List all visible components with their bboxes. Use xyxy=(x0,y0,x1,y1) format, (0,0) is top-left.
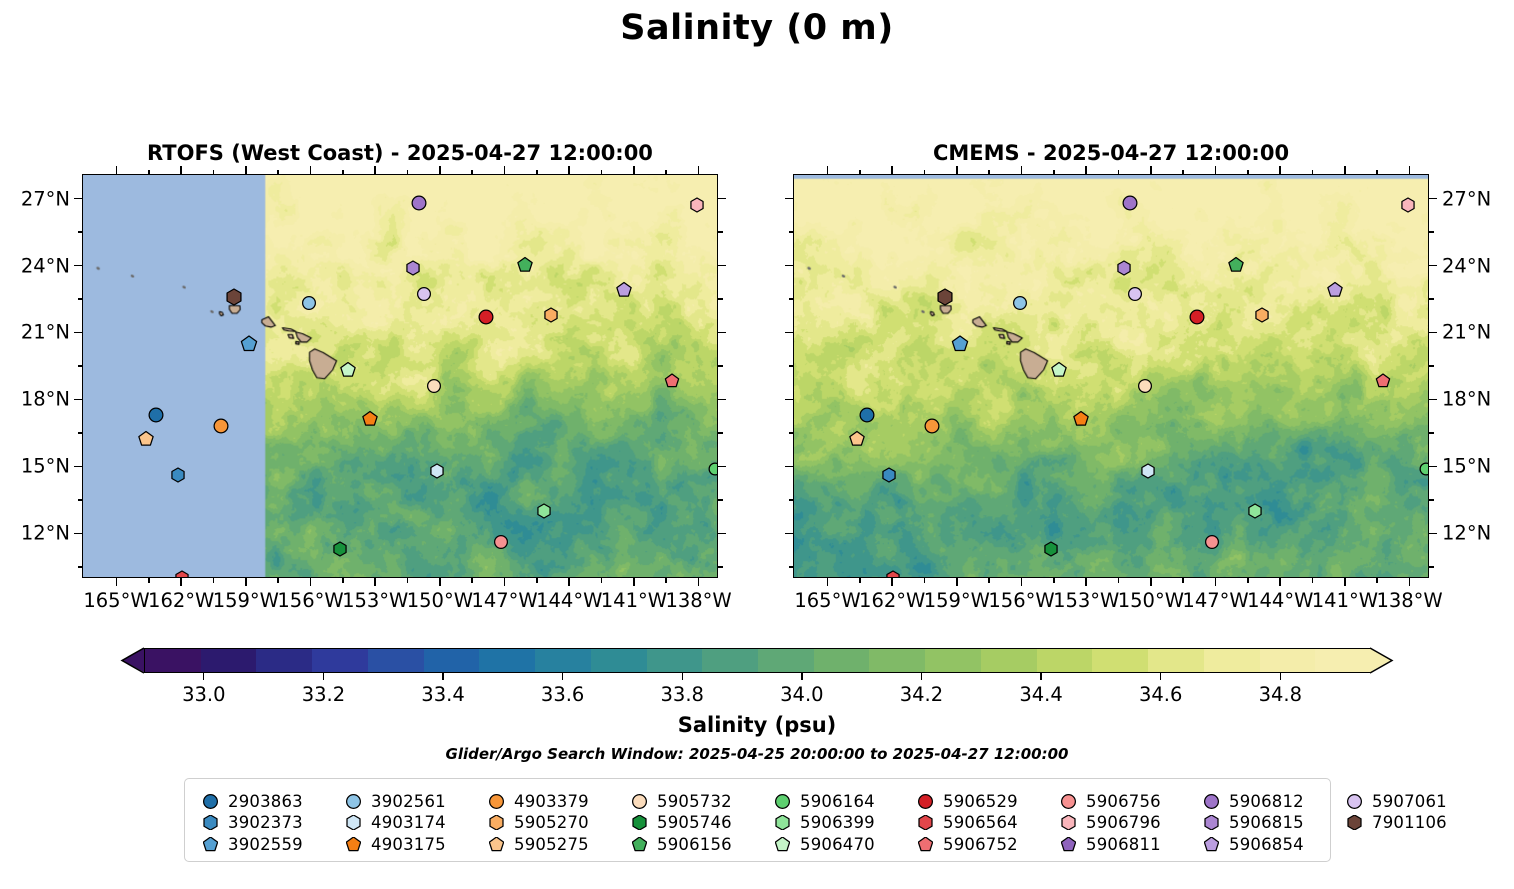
legend-item-5907061[interactable]: 5907061 xyxy=(1343,790,1447,812)
y-tick-minor-right xyxy=(718,365,723,367)
x-tick xyxy=(374,578,376,586)
colorbar-segment xyxy=(145,649,201,672)
float-marker-5906164[interactable] xyxy=(708,462,718,475)
legend-item-5906854[interactable]: 5906854 xyxy=(1200,833,1304,855)
legend-item-3902373[interactable]: 3902373 xyxy=(199,812,303,834)
y-tick-right xyxy=(1429,198,1437,200)
float-marker-5905275[interactable] xyxy=(849,432,864,447)
x-tick-minor xyxy=(148,578,150,583)
colorbar-segment xyxy=(647,649,703,672)
legend-label: 5906812 xyxy=(1229,792,1304,811)
colorbar-title: Salinity (psu) xyxy=(0,713,1514,737)
x-tick-minor-top xyxy=(1182,170,1184,175)
legend-symbol-hexagon-icon xyxy=(771,812,793,834)
x-tick xyxy=(1085,578,1087,586)
x-tick-label: 159°W xyxy=(924,589,990,612)
x-tick-top xyxy=(1409,166,1411,174)
legend-label: 5906815 xyxy=(1229,813,1304,832)
x-tick-minor xyxy=(342,578,344,583)
y-tick-minor-right xyxy=(1429,298,1434,300)
float-marker-3902373[interactable] xyxy=(882,468,896,482)
colorbar-tick-label: 33.8 xyxy=(661,683,704,706)
y-tick-label: 12°N xyxy=(1442,522,1491,545)
y-tick-minor xyxy=(78,499,83,501)
legend-symbol-pentagon-icon xyxy=(485,833,507,855)
x-tick-label: 150°W xyxy=(407,589,473,612)
x-tick-top xyxy=(310,166,312,174)
colorbar-tick xyxy=(921,673,922,680)
float-marker-3902373[interactable] xyxy=(171,468,185,482)
legend-symbol-circle-icon xyxy=(1057,790,1079,812)
x-tick xyxy=(891,578,893,586)
float-marker-5906812[interactable] xyxy=(412,195,427,210)
y-tick-label: 27°N xyxy=(6,187,70,210)
x-tick-minor-top xyxy=(536,170,538,175)
legend-symbol-pentagon-icon xyxy=(199,833,221,855)
legend-label: 3902559 xyxy=(228,835,303,854)
x-tick xyxy=(827,578,829,586)
colorbar-segment xyxy=(1260,649,1316,672)
float-marker-5905270[interactable] xyxy=(1255,308,1269,322)
x-tick-minor xyxy=(536,578,538,583)
x-tick-label: 162°W xyxy=(859,589,925,612)
y-tick-label: 18°N xyxy=(1442,388,1491,411)
x-tick xyxy=(568,578,570,586)
float-marker-3902559[interactable] xyxy=(952,336,968,352)
legend-symbol-circle-icon xyxy=(771,790,793,812)
colorbar-tick xyxy=(1160,673,1161,680)
y-tick xyxy=(74,533,82,535)
colorbar-segment xyxy=(1037,649,1093,672)
x-tick-top xyxy=(1085,166,1087,174)
legend-item-4903175[interactable]: 4903175 xyxy=(342,833,446,855)
y-tick-minor xyxy=(789,231,794,233)
x-tick-minor-top xyxy=(213,170,215,175)
legend-label: 5906752 xyxy=(943,835,1018,854)
y-tick-minor xyxy=(78,231,83,233)
x-tick-top xyxy=(1215,166,1217,174)
legend-item-5906470[interactable]: 5906470 xyxy=(771,833,875,855)
colorbar-tick-label: 34.4 xyxy=(1019,683,1062,706)
x-tick-minor xyxy=(988,578,990,583)
legend-symbol-circle-icon xyxy=(1200,790,1222,812)
colorbar-segment xyxy=(201,649,257,672)
x-tick xyxy=(956,578,958,586)
float-marker-5906564[interactable] xyxy=(886,571,900,578)
float-marker-5906752[interactable] xyxy=(665,374,679,388)
float-marker-4903175[interactable] xyxy=(1073,412,1088,427)
x-tick-top xyxy=(891,166,893,174)
colorbar-segment xyxy=(1315,649,1371,672)
legend-item-5906796[interactable]: 5906796 xyxy=(1057,812,1161,834)
colorbar-tick-label: 34.2 xyxy=(900,683,943,706)
y-tick-right xyxy=(718,399,726,401)
y-tick xyxy=(785,399,793,401)
legend-label: 5905746 xyxy=(657,813,732,832)
x-tick-minor xyxy=(665,578,667,583)
x-tick-label: 165°W xyxy=(794,589,860,612)
float-marker-3902559[interactable] xyxy=(241,336,257,352)
legend-item-5906811[interactable]: 5906811 xyxy=(1057,833,1161,855)
search-window-note: Glider/Argo Search Window: 2025-04-25 20… xyxy=(0,745,1514,763)
y-tick xyxy=(74,466,82,468)
y-tick-minor xyxy=(789,432,794,434)
legend-item-5906164[interactable]: 5906164 xyxy=(771,790,875,812)
float-marker-5906529[interactable] xyxy=(479,309,494,324)
x-tick-minor-top xyxy=(1118,170,1120,175)
legend-item-5905275[interactable]: 5905275 xyxy=(485,833,589,855)
legend-symbol-hexagon-icon xyxy=(628,812,650,834)
float-marker-5906812[interactable] xyxy=(1123,195,1138,210)
y-tick xyxy=(74,198,82,200)
float-marker-5906399[interactable] xyxy=(537,504,551,518)
legend-label: 5906529 xyxy=(943,792,1018,811)
y-tick xyxy=(785,332,793,334)
x-tick-label: 162°W xyxy=(148,589,214,612)
legend-label: 4903379 xyxy=(514,792,589,811)
y-tick xyxy=(785,466,793,468)
legend-item-5906399[interactable]: 5906399 xyxy=(771,812,875,834)
float-marker-5906815[interactable] xyxy=(406,261,420,275)
y-tick-minor-right xyxy=(718,432,723,434)
x-tick-top xyxy=(1021,166,1023,174)
colorbar-segment xyxy=(424,649,480,672)
float-marker-4903175[interactable] xyxy=(362,412,377,427)
x-tick-label: 144°W xyxy=(1247,589,1313,612)
y-tick-minor-right xyxy=(1429,231,1434,233)
x-tick-label: 147°W xyxy=(471,589,537,612)
legend-symbol-hexagon-icon xyxy=(1343,812,1365,834)
x-tick-label: 141°W xyxy=(601,589,667,612)
colorbar-gradient xyxy=(144,648,1370,673)
legend-label: 7901106 xyxy=(1372,813,1447,832)
float-marker-5906796[interactable] xyxy=(690,198,704,212)
float-marker-5906756[interactable] xyxy=(1205,535,1219,549)
y-tick-label: 24°N xyxy=(6,254,70,277)
legend-item-4903174[interactable]: 4903174 xyxy=(342,812,446,834)
legend-item-5906156[interactable]: 5906156 xyxy=(628,833,732,855)
colorbar-segment xyxy=(702,649,758,672)
colorbar-segment xyxy=(981,649,1037,672)
legend-item-5906529[interactable]: 5906529 xyxy=(914,790,1018,812)
legend-symbol-circle-icon xyxy=(485,790,507,812)
float-marker-5907061[interactable] xyxy=(417,287,431,301)
map-panel-rtofs[interactable] xyxy=(82,174,718,578)
y-tick-minor-right xyxy=(718,499,723,501)
x-tick xyxy=(439,578,441,586)
x-tick-top xyxy=(374,166,376,174)
y-tick-minor xyxy=(789,499,794,501)
colorbar-tick xyxy=(801,673,802,680)
y-tick-right xyxy=(1429,466,1437,468)
legend-label: 5906399 xyxy=(800,813,875,832)
y-tick-label: 18°N xyxy=(6,388,70,411)
y-tick-minor xyxy=(78,365,83,367)
x-tick-label: 138°W xyxy=(665,589,731,612)
x-tick xyxy=(245,578,247,586)
float-marker-5906752[interactable] xyxy=(1376,374,1390,388)
legend-symbol-circle-icon xyxy=(1343,790,1365,812)
x-tick-top xyxy=(956,166,958,174)
legend-symbol-pentagon-icon xyxy=(771,833,793,855)
float-marker-5906854[interactable] xyxy=(617,282,632,297)
float-marker-5905275[interactable] xyxy=(138,432,153,447)
x-tick-minor xyxy=(924,578,926,583)
colorbar-tick xyxy=(1280,673,1281,680)
colorbar-segment xyxy=(591,649,647,672)
float-marker-3902561[interactable] xyxy=(302,296,316,310)
colorbar-tick-label: 33.6 xyxy=(541,683,584,706)
x-tick-top xyxy=(568,166,570,174)
x-tick-top xyxy=(1150,166,1152,174)
x-tick-minor-top xyxy=(277,170,279,175)
legend-symbol-pentagon-icon xyxy=(1200,833,1222,855)
y-tick-right xyxy=(718,533,726,535)
x-tick-minor xyxy=(1312,578,1314,583)
x-tick-minor-top xyxy=(924,170,926,175)
y-tick-minor xyxy=(789,365,794,367)
colorbar-tick-label: 34.8 xyxy=(1259,683,1302,706)
x-tick-top xyxy=(698,166,700,174)
colorbar-segment xyxy=(758,649,814,672)
y-tick-right xyxy=(718,198,726,200)
legend-label: 3902373 xyxy=(228,813,303,832)
colorbar-segment xyxy=(479,649,535,672)
x-tick-minor-top xyxy=(859,170,861,175)
panel-title-rtofs: RTOFS (West Coast) - 2025-04-27 12:00:00 xyxy=(82,141,718,165)
x-tick-minor-top xyxy=(1312,170,1314,175)
y-tick-right xyxy=(1429,265,1437,267)
y-tick-minor-right xyxy=(1429,566,1434,568)
x-tick-top xyxy=(116,166,118,174)
colorbar-tick xyxy=(682,673,683,680)
float-marker-5906470[interactable] xyxy=(1052,363,1067,378)
x-tick-top xyxy=(1344,166,1346,174)
legend-item-4903379[interactable]: 4903379 xyxy=(485,790,589,812)
legend-item-5905732[interactable]: 5905732 xyxy=(628,790,732,812)
legend-symbol-hexagon-icon xyxy=(914,812,936,834)
x-tick xyxy=(504,578,506,586)
float-marker-5905746[interactable] xyxy=(333,542,347,556)
y-tick-right xyxy=(718,466,726,468)
colorbar-segment xyxy=(312,649,368,672)
colorbar-segment xyxy=(1148,649,1204,672)
y-tick-minor xyxy=(789,298,794,300)
float-marker-3902561[interactable] xyxy=(1013,296,1027,310)
x-tick-label: 153°W xyxy=(342,589,408,612)
float-marker-5906156[interactable] xyxy=(1228,258,1243,273)
x-tick-minor-top xyxy=(665,170,667,175)
x-tick-minor-top xyxy=(988,170,990,175)
x-tick-minor-top xyxy=(148,170,150,175)
legend-label: 5906564 xyxy=(943,813,1018,832)
legend-label: 3902561 xyxy=(371,792,446,811)
legend-item-5906756[interactable]: 5906756 xyxy=(1057,790,1161,812)
float-marker-5905732[interactable] xyxy=(1138,379,1152,393)
colorbar-tick-label: 33.2 xyxy=(302,683,345,706)
colorbar-tick-label: 34.6 xyxy=(1139,683,1182,706)
float-marker-7901106[interactable] xyxy=(937,289,953,305)
y-tick-label: 12°N xyxy=(6,522,70,545)
float-marker-4903174[interactable] xyxy=(430,464,444,478)
float-marker-5906564[interactable] xyxy=(175,571,189,578)
legend-symbol-pentagon-icon xyxy=(628,833,650,855)
float-marker-5906854[interactable] xyxy=(1328,282,1343,297)
x-tick-minor-top xyxy=(1247,170,1249,175)
float-marker-5905746[interactable] xyxy=(1044,542,1058,556)
y-tick-minor xyxy=(78,566,83,568)
y-tick xyxy=(785,533,793,535)
legend-label: 2903863 xyxy=(228,792,303,811)
x-tick-minor xyxy=(1053,578,1055,583)
x-tick-minor xyxy=(1247,578,1249,583)
x-tick xyxy=(180,578,182,586)
legend-label: 5906164 xyxy=(800,792,875,811)
float-marker-2903863[interactable] xyxy=(149,407,164,422)
colorbar-extend-max xyxy=(1370,648,1392,672)
legend-label: 4903175 xyxy=(371,835,446,854)
x-tick-label: 144°W xyxy=(536,589,602,612)
colorbar-segment xyxy=(869,649,925,672)
legend-label: 5906854 xyxy=(1229,835,1304,854)
legend-symbol-hexagon-icon xyxy=(1200,812,1222,834)
float-marker-4903174[interactable] xyxy=(1141,464,1155,478)
y-tick xyxy=(785,198,793,200)
colorbar-segment xyxy=(925,649,981,672)
colorbar-tick xyxy=(203,673,204,680)
x-tick-minor-top xyxy=(601,170,603,175)
x-tick-minor xyxy=(601,578,603,583)
x-tick-label: 159°W xyxy=(213,589,279,612)
legend-item-5906812[interactable]: 5906812 xyxy=(1200,790,1304,812)
x-tick-label: 138°W xyxy=(1376,589,1442,612)
legend-label: 5906470 xyxy=(800,835,875,854)
y-tick-right xyxy=(1429,399,1437,401)
legend-symbol-circle-icon xyxy=(342,790,364,812)
salinity-field-cmems xyxy=(794,175,1428,577)
x-tick-label: 156°W xyxy=(988,589,1054,612)
x-tick-top xyxy=(180,166,182,174)
x-tick xyxy=(698,578,700,586)
x-tick-top xyxy=(245,166,247,174)
colorbar-segment xyxy=(814,649,870,672)
legend-symbol-hexagon-icon xyxy=(342,812,364,834)
float-marker-2903863[interactable] xyxy=(860,407,875,422)
x-tick-label: 141°W xyxy=(1312,589,1378,612)
float-marker-5906164[interactable] xyxy=(1419,462,1429,475)
x-tick-top xyxy=(633,166,635,174)
colorbar-segment xyxy=(535,649,591,672)
y-tick-label: 24°N xyxy=(1442,254,1491,277)
legend-item-5905746[interactable]: 5905746 xyxy=(628,812,732,834)
x-tick-minor-top xyxy=(342,170,344,175)
legend-label: 5905275 xyxy=(514,835,589,854)
colorbar-tick-label: 34.0 xyxy=(780,683,823,706)
x-tick-minor-top xyxy=(471,170,473,175)
x-tick-label: 165°W xyxy=(83,589,149,612)
legend-symbol-circle-icon xyxy=(199,790,221,812)
x-tick xyxy=(1344,578,1346,586)
legend-symbol-hexagon-icon xyxy=(485,812,507,834)
y-tick-label: 27°N xyxy=(1442,187,1491,210)
x-tick-minor xyxy=(407,578,409,583)
legend-item-3902561[interactable]: 3902561 xyxy=(342,790,446,812)
y-tick-minor-right xyxy=(718,231,723,233)
legend-item-5906752[interactable]: 5906752 xyxy=(914,833,1018,855)
y-tick-minor xyxy=(78,432,83,434)
x-tick-label: 147°W xyxy=(1182,589,1248,612)
legend-item-5906815[interactable]: 5906815 xyxy=(1200,812,1304,834)
y-tick-right xyxy=(1429,533,1437,535)
x-tick-minor xyxy=(859,578,861,583)
x-tick-minor-top xyxy=(407,170,409,175)
y-tick xyxy=(74,399,82,401)
colorbar-segment xyxy=(1204,649,1260,672)
colorbar-segment xyxy=(1092,649,1148,672)
colorbar-tick xyxy=(442,673,443,680)
float-marker-5906156[interactable] xyxy=(517,258,532,273)
legend-symbol-circle-icon xyxy=(914,790,936,812)
y-tick-label: 15°N xyxy=(6,455,70,478)
float-id-legend[interactable]: 2903863390237339025593902561490317449031… xyxy=(184,778,1331,862)
colorbar-tick-label: 33.0 xyxy=(182,683,225,706)
legend-item-7901106[interactable]: 7901106 xyxy=(1343,812,1447,834)
x-tick-minor-top xyxy=(1376,170,1378,175)
legend-item-3902559[interactable]: 3902559 xyxy=(199,833,303,855)
y-tick-label: 21°N xyxy=(1442,321,1491,344)
float-marker-5906796[interactable] xyxy=(1401,198,1415,212)
y-tick-minor-right xyxy=(718,298,723,300)
legend-item-5905270[interactable]: 5905270 xyxy=(485,812,589,834)
colorbar-tick xyxy=(1040,673,1041,680)
legend-item-5906564[interactable]: 5906564 xyxy=(914,812,1018,834)
colorbar-segment xyxy=(368,649,424,672)
x-tick-label: 153°W xyxy=(1053,589,1119,612)
x-tick-minor xyxy=(213,578,215,583)
x-tick-minor-top xyxy=(1053,170,1055,175)
legend-symbol-pentagon-icon xyxy=(914,833,936,855)
legend-symbol-pentagon-icon xyxy=(342,833,364,855)
float-marker-5906756[interactable] xyxy=(494,535,508,549)
float-marker-5906815[interactable] xyxy=(1117,261,1131,275)
float-marker-4903379[interactable] xyxy=(924,419,939,434)
x-tick-minor xyxy=(1182,578,1184,583)
x-tick-top xyxy=(827,166,829,174)
y-tick-minor-right xyxy=(1429,365,1434,367)
float-marker-7901106[interactable] xyxy=(226,289,242,305)
x-tick-top xyxy=(504,166,506,174)
legend-item-2903863[interactable]: 2903863 xyxy=(199,790,303,812)
legend-symbol-hexagon-icon xyxy=(199,812,221,834)
float-marker-5906399[interactable] xyxy=(1248,504,1262,518)
float-marker-5905732[interactable] xyxy=(427,379,441,393)
legend-label: 5906756 xyxy=(1086,792,1161,811)
x-tick-minor xyxy=(1376,578,1378,583)
y-tick-minor xyxy=(78,298,83,300)
map-panel-cmems[interactable] xyxy=(793,174,1429,578)
float-marker-5906529[interactable] xyxy=(1190,309,1205,324)
y-tick-label: 21°N xyxy=(6,321,70,344)
float-marker-5906470[interactable] xyxy=(341,363,356,378)
float-marker-5905270[interactable] xyxy=(544,308,558,322)
float-marker-5907061[interactable] xyxy=(1128,287,1142,301)
legend-symbol-pentagon-icon xyxy=(1057,833,1079,855)
x-tick xyxy=(1279,578,1281,586)
colorbar-segment xyxy=(256,649,312,672)
legend-label: 5907061 xyxy=(1372,792,1447,811)
legend-label: 5906156 xyxy=(657,835,732,854)
float-marker-4903379[interactable] xyxy=(213,419,228,434)
